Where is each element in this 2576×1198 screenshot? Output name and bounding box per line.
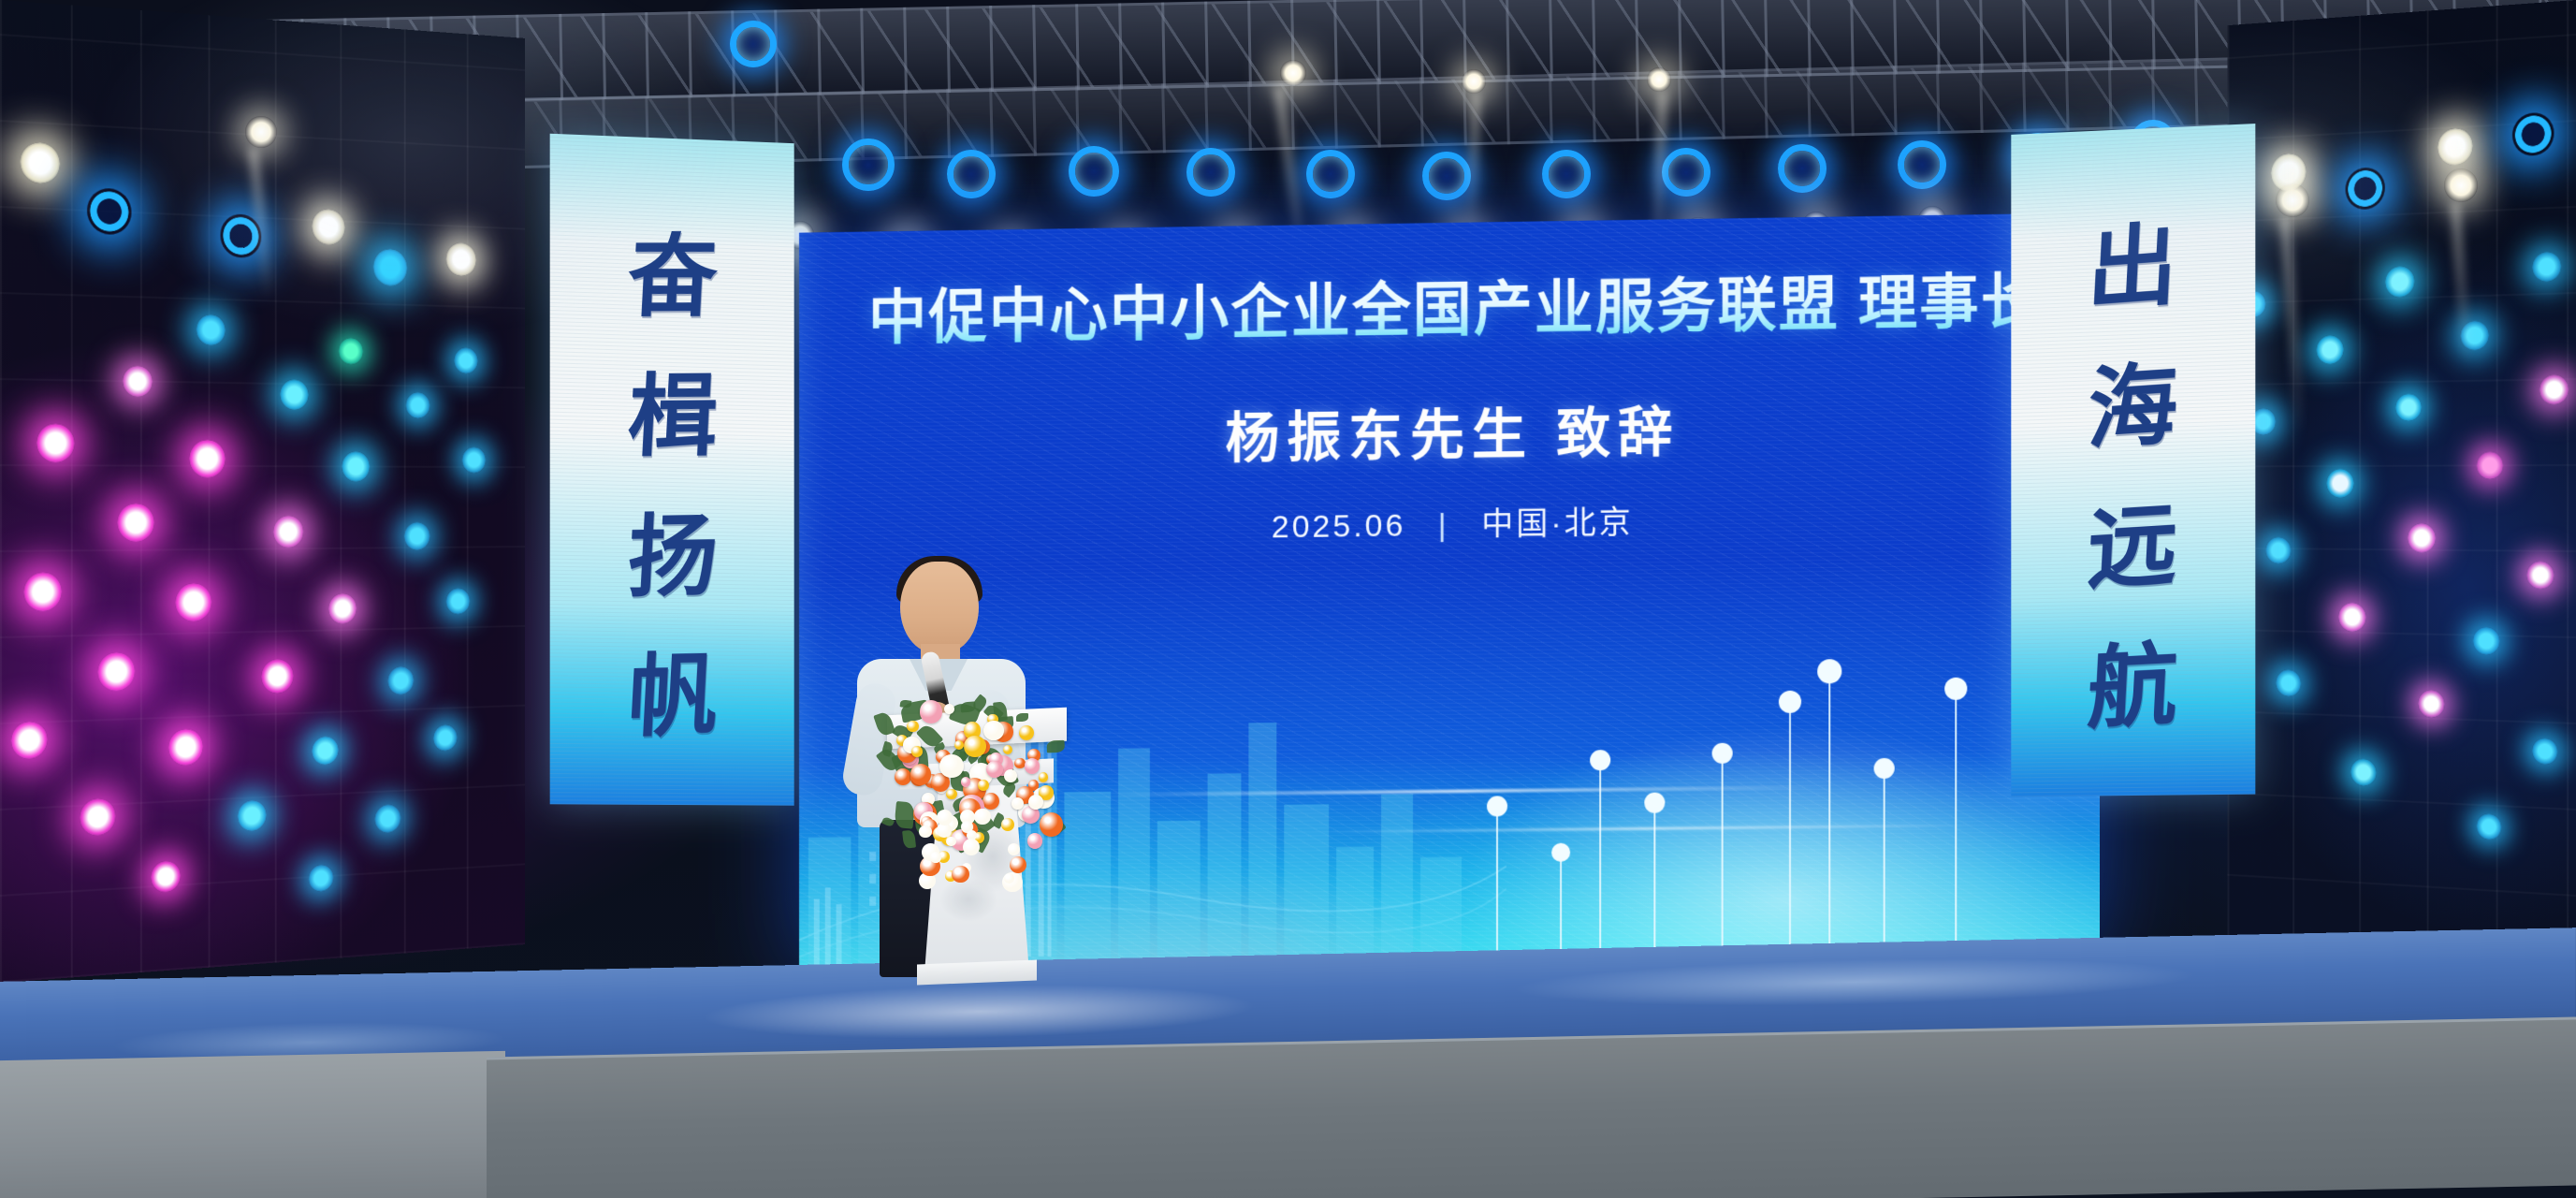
left-wall-pixel-light <box>117 504 154 542</box>
led-pixel-wall-right <box>2228 0 2576 983</box>
spot-lamp-icon <box>2444 168 2478 202</box>
right-wall-pixel-light <box>2532 738 2557 765</box>
spot-lamp-icon <box>245 116 277 148</box>
left-wall-pixel-light <box>446 242 476 277</box>
flower-bloom <box>964 736 985 757</box>
right-wall-pixel-light <box>2473 627 2500 655</box>
right-wall-pixel-light <box>2395 393 2422 421</box>
foliage-leaf <box>895 801 915 829</box>
spot-lamp-icon <box>1647 67 1671 92</box>
stage-apron-left <box>0 1051 505 1198</box>
flower-bloom <box>1004 769 1017 782</box>
foliage-leaf <box>881 816 895 827</box>
right-wall-pixel-light <box>2408 523 2436 552</box>
left-wall-pixel-light <box>406 392 430 418</box>
left-wall-pixel-light <box>36 423 75 462</box>
ring-lamp-icon <box>1662 148 1710 197</box>
screen-title: 中促中心中小企业全国产业服务联盟 理事长 <box>812 252 2100 356</box>
banner-right-char-2: 远 <box>2086 501 2180 596</box>
left-calligraphy-banner: 奋楫扬帆 <box>550 134 794 806</box>
ring-lamp-icon <box>1069 146 1119 197</box>
left-wall-pixel-light <box>454 347 478 373</box>
right-wall-pixel-light <box>2526 561 2554 589</box>
flower-bloom <box>930 852 940 862</box>
flower-bloom <box>982 793 999 810</box>
right-wall-pixel-light <box>2326 469 2353 498</box>
screen-subtitle: 杨振东先生 致辞 <box>812 382 2100 478</box>
foliage-leaf <box>1016 713 1028 722</box>
flower-bloom <box>920 700 942 723</box>
ring-lamp-icon <box>947 150 996 198</box>
ring-lamp-icon <box>1306 150 1355 198</box>
left-wall-pixel-light <box>404 522 430 550</box>
flower-bloom <box>1028 795 1043 810</box>
banner-left-char-0: 奋 <box>625 233 720 323</box>
flower-bloom <box>1003 745 1012 754</box>
flower-bloom <box>1010 856 1027 874</box>
banner-right-characters: 出海远航 <box>2011 124 2255 796</box>
flower-bloom <box>978 780 989 791</box>
left-wall-pixel-light <box>280 379 309 410</box>
flower-bloom <box>919 825 931 838</box>
screen-location: 中国·北京 <box>1481 504 1634 542</box>
left-wall-pixel-light <box>342 451 370 481</box>
banner-right-char-1: 海 <box>2086 360 2180 456</box>
flower-bloom <box>1040 812 1064 837</box>
stage-photo: 中促中心中小企业全国产业服务联盟 理事长 杨振东先生 致辞 2025.06 | … <box>0 0 2576 1198</box>
right-wall-pixel-light <box>2350 758 2377 786</box>
flower-bloom <box>1027 833 1042 848</box>
flower-bloom <box>1004 873 1014 884</box>
flower-bloom <box>961 777 970 786</box>
banner-left-char-1: 楫 <box>625 373 720 463</box>
flower-bloom <box>1008 843 1020 855</box>
right-wall-pixel-light <box>2338 603 2365 633</box>
screen-meta-separator: | <box>1438 507 1449 544</box>
flower-bloom <box>907 721 919 733</box>
flower-bloom <box>983 721 1004 741</box>
flower-bloom <box>939 754 963 778</box>
flower-bloom <box>1025 758 1041 774</box>
ring-lamp-icon <box>1422 152 1471 200</box>
spot-lamp-icon <box>1280 60 1306 86</box>
left-wall-pixel-light <box>373 248 408 286</box>
flower-bloom <box>954 740 964 750</box>
foliage-leaf <box>899 699 911 709</box>
right-wall-pixel-light <box>2477 813 2502 840</box>
ring-lamp-icon <box>1542 150 1591 198</box>
banner-left-char-2: 扬 <box>625 512 720 603</box>
left-wall-pixel-light <box>196 314 226 346</box>
speaker-head <box>900 562 979 653</box>
flower-bloom <box>952 866 968 883</box>
flower-bloom <box>895 768 911 785</box>
flower-bloom <box>946 789 957 800</box>
left-wall-pixel-light <box>123 365 153 397</box>
screen-date: 2025.06 <box>1272 508 1406 546</box>
flower-bloom <box>963 839 980 855</box>
flower-bloom <box>1001 818 1014 831</box>
flower-bloom <box>946 837 955 846</box>
flower-bloom <box>974 809 990 825</box>
flower-arrangement <box>868 694 1070 878</box>
right-wall-pixel-light <box>2265 537 2291 564</box>
ring-lamp-icon <box>1898 140 1946 189</box>
right-wall-pixel-light <box>2418 690 2444 718</box>
right-wall-pixel-light <box>2477 451 2504 479</box>
flower-bloom <box>1039 772 1049 782</box>
ring-lamp-icon <box>730 21 777 67</box>
banner-right-char-3: 航 <box>2086 641 2180 736</box>
banner-left-characters: 奋楫扬帆 <box>550 134 794 806</box>
left-wall-pixel-light <box>462 446 486 473</box>
foliage-leaf <box>902 829 916 848</box>
flower-bloom <box>1019 725 1034 740</box>
left-wall-pixel-light <box>312 209 345 246</box>
right-wall-pixel-light <box>2276 669 2301 697</box>
left-wall-pixel-light <box>339 338 363 365</box>
ring-lamp-icon <box>1778 144 1826 193</box>
flower-bloom <box>986 761 1003 778</box>
right-calligraphy-banner: 出海远航 <box>2011 124 2255 796</box>
left-wall-pixel-light <box>273 516 303 548</box>
flower-bloom <box>910 764 932 785</box>
flower-bloom <box>944 704 954 714</box>
spot-lamp-icon <box>1462 69 1486 94</box>
left-wall-pixel-light <box>189 440 226 478</box>
screen-meta-line: 2025.06 | 中国·北京 <box>812 490 2100 553</box>
foliage-leaf <box>1047 739 1065 752</box>
ring-lamp-icon <box>1186 148 1235 197</box>
banner-left-char-3: 帆 <box>625 651 720 743</box>
flower-bloom <box>911 746 923 757</box>
banner-right-char-0: 出 <box>2086 220 2180 316</box>
ring-lamp-icon <box>842 139 895 191</box>
spot-lamp-icon <box>2276 183 2309 217</box>
